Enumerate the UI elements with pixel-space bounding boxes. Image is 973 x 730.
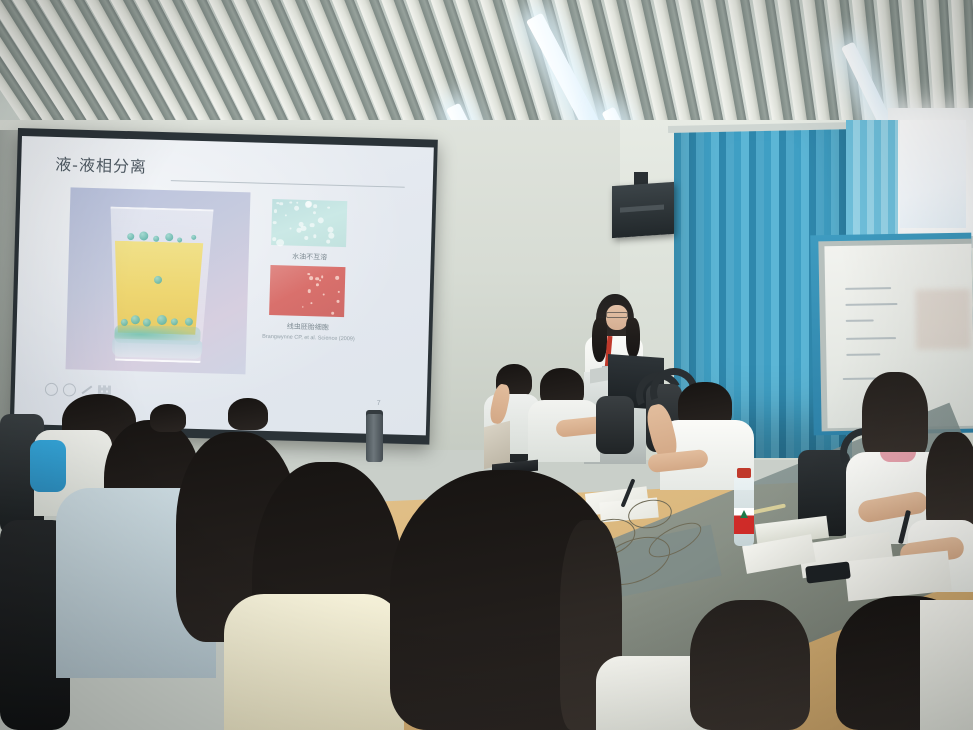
- fluorescent-spot: [338, 291, 340, 293]
- fluorescent-spot: [316, 283, 319, 286]
- fluorescent-spot: [332, 312, 335, 315]
- person-collar: [880, 452, 916, 462]
- presenter-hair-right: [626, 318, 640, 358]
- micrograph-droplet: [294, 205, 299, 210]
- fluorescent-spot: [309, 276, 313, 280]
- wall-speaker: [612, 182, 674, 238]
- micrograph-droplet: [298, 221, 303, 226]
- classroom-photo: 液-液相分离 水油不互溶 线虫胚胎细胞 Brangwynne CP, et al…: [0, 0, 973, 730]
- micrograph-droplet: [296, 202, 298, 204]
- person-hair: [862, 372, 928, 462]
- fluorescent-spot: [311, 302, 313, 304]
- fluorescent-spot: [322, 293, 325, 296]
- micrograph-droplet: [285, 214, 287, 216]
- whiteboard-note-line: [845, 287, 891, 290]
- thermos: [366, 414, 383, 462]
- micrograph-droplet: [274, 209, 277, 212]
- micrograph-droplet: [279, 202, 283, 206]
- micrograph-droplet: [273, 221, 277, 225]
- whiteboard-note-line: [846, 353, 880, 356]
- micrograph-droplet: [326, 240, 330, 244]
- slide-figure-embryo-micrograph: [269, 265, 345, 317]
- window-glass: [900, 120, 966, 228]
- micrograph-droplet: [289, 228, 291, 230]
- fluorescent-spot: [307, 273, 310, 276]
- fluorescent-spot: [315, 277, 318, 280]
- micrograph-droplet: [305, 201, 312, 208]
- slide-figure-glass: [66, 187, 251, 374]
- pen-icon[interactable]: [82, 386, 93, 395]
- micrograph-droplet: [313, 205, 317, 209]
- oil-droplet: [177, 237, 182, 242]
- fluorescent-spot: [335, 276, 339, 280]
- slide-figure-oil-water-micrograph: [271, 199, 347, 247]
- fluorescent-spot: [319, 280, 321, 282]
- micrograph-droplet: [297, 228, 302, 233]
- slide-title: 液-液相分离: [55, 151, 147, 178]
- micrograph-droplet: [309, 223, 314, 228]
- chair: [596, 396, 634, 454]
- oil-droplet: [191, 235, 196, 240]
- whiteboard-note-line: [846, 337, 896, 340]
- whiteboard-note-line: [846, 319, 874, 321]
- person-shirt: [920, 600, 973, 730]
- glass-base: [112, 339, 202, 360]
- right-curtain-panel: [846, 120, 898, 250]
- bottle-cap: [737, 468, 751, 478]
- previous-slide-icon[interactable]: [45, 382, 58, 395]
- person-shirt-accent: [30, 440, 66, 492]
- person-shirt: [224, 594, 404, 730]
- micrograph-droplet: [289, 202, 291, 204]
- micrograph-droplet: [328, 233, 334, 239]
- person-hair: [690, 600, 810, 730]
- person-hair: [150, 404, 186, 432]
- whiteboard-note-line: [845, 303, 897, 306]
- fluorescent-spot: [321, 276, 323, 278]
- speaker-grill: [620, 205, 664, 213]
- micrograph-droplet: [328, 226, 334, 232]
- person-hair: [228, 398, 268, 430]
- glasses-icon: [606, 312, 628, 318]
- micrograph-droplet: [317, 217, 324, 224]
- micrograph-droplet: [313, 234, 317, 238]
- next-slide-icon[interactable]: [63, 383, 76, 396]
- whiteboard-smudge: [915, 289, 971, 350]
- water-bottle: [733, 468, 755, 546]
- micrograph-droplet: [304, 236, 308, 240]
- fluorescent-spot: [308, 289, 311, 292]
- micrograph-droplet: [327, 207, 329, 209]
- fluorescent-spot: [336, 300, 339, 303]
- micrograph-droplet: [313, 212, 316, 215]
- fluorescent-spot: [302, 306, 304, 308]
- projection-screen: 液-液相分离 水油不互溶 线虫胚胎细胞 Brangwynne CP, et al…: [14, 136, 434, 435]
- slide-page-number: 7: [377, 400, 381, 407]
